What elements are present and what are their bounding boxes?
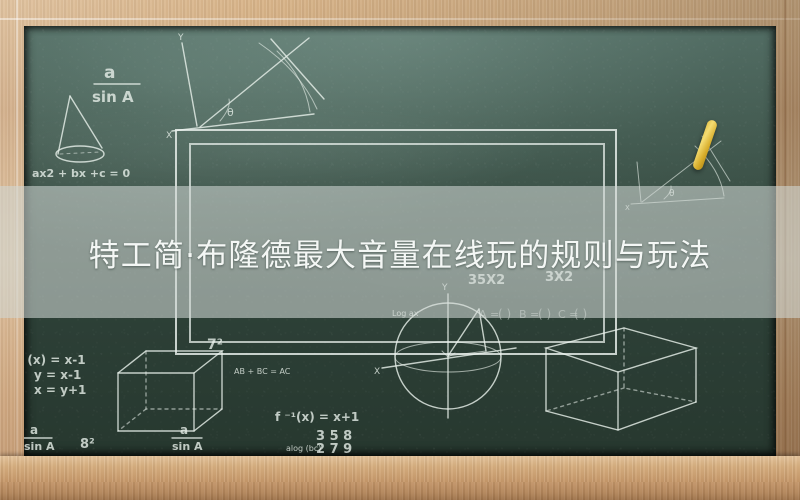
- cube-drawing-left: [118, 351, 222, 431]
- addition-column: 3 5 8 2 7 9: [314, 429, 354, 456]
- seven-squared-text: 7²: [207, 337, 223, 353]
- svg-text:a: a: [104, 63, 115, 83]
- svg-text:Y: Y: [177, 33, 184, 43]
- title-banner: 特工简·布隆德最大音量在线玩的规则与玩法: [0, 186, 800, 318]
- svg-text:2 7 9: 2 7 9: [316, 442, 352, 456]
- cube-drawing-right: [546, 328, 696, 430]
- svg-text:x = y+1: x = y+1: [34, 383, 86, 397]
- chalk-ledge-lip: [0, 482, 800, 500]
- svg-text:sin A: sin A: [24, 440, 55, 453]
- svg-text:f (x) = x-1: f (x) = x-1: [24, 353, 86, 367]
- chalk-ledge: [0, 456, 800, 482]
- svg-text:3 5 8: 3 5 8: [316, 429, 352, 444]
- frame-bevel-top: [0, 18, 800, 20]
- quadratic-equation-text: ax2 + bx +c = 0: [32, 167, 130, 180]
- law-of-sines-fraction: a sin A: [92, 63, 140, 106]
- cone-drawing: [56, 96, 104, 162]
- svg-text:X: X: [374, 367, 380, 377]
- log-bc-text: alog (bc): [286, 444, 321, 453]
- page-title: 特工简·布隆德最大音量在线玩的规则与玩法: [89, 230, 712, 275]
- law-of-sines-fraction-3: a sin A: [172, 423, 203, 453]
- svg-text:sin A: sin A: [172, 440, 203, 453]
- svg-text:y = x-1: y = x-1: [34, 368, 81, 382]
- svg-text:θ: θ: [227, 106, 234, 119]
- svg-text:a: a: [30, 423, 38, 437]
- floating-gold-chalk: [692, 119, 718, 171]
- function-equations: f (x) = x-1 y = x-1 x = y+1: [24, 353, 86, 397]
- segment-sum-text: AB + BC = AC: [234, 367, 291, 376]
- svg-text:X: X: [166, 131, 172, 141]
- law-of-sines-fraction-2: a sin A: [24, 423, 55, 453]
- svg-text:a: a: [180, 423, 188, 437]
- eight-squared-text: 8²: [80, 437, 95, 452]
- inverse-function-text: f ⁻¹(x) = x+1: [275, 410, 359, 424]
- svg-text:sin A: sin A: [92, 88, 134, 106]
- poster-image: a sin A ax2 + bx +c = 0 Y X: [0, 0, 800, 500]
- angle-axis-diagram: Y X θ: [166, 33, 324, 141]
